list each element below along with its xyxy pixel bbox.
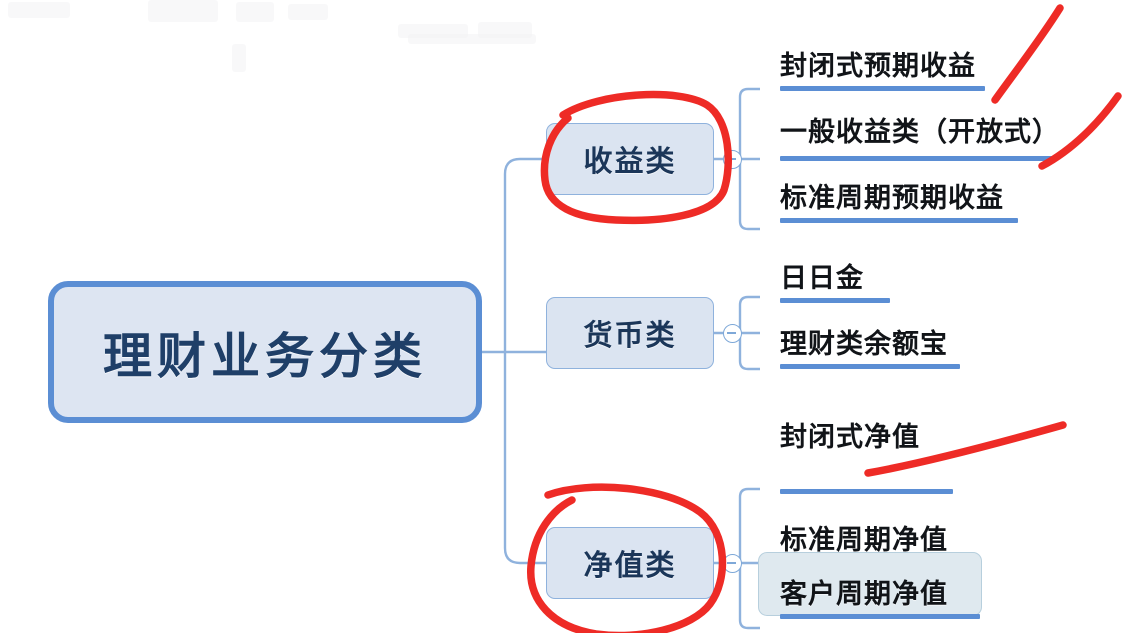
root-node[interactable]: 理财业务分类 bbox=[48, 281, 482, 423]
mindmap-canvas: 理财业务分类 收益类 货币类 净值类 封闭式预期收益 一般收益类（开放式） 标准… bbox=[0, 0, 1138, 633]
leaf-underline bbox=[780, 86, 985, 91]
branch-node-label: 净值类 bbox=[583, 542, 676, 584]
leaf-node-label: 理财类余额宝 bbox=[780, 322, 948, 361]
branch2-fan bbox=[740, 489, 760, 628]
collapse-toggle-branch-2[interactable] bbox=[723, 554, 742, 573]
spine-connector bbox=[505, 159, 546, 563]
root-node-label: 理财业务分类 bbox=[103, 317, 427, 388]
leaf-underline bbox=[780, 218, 1018, 223]
collapse-toggle-branch-0[interactable] bbox=[723, 150, 742, 169]
leaf-underline bbox=[780, 156, 1054, 161]
leaf-underline bbox=[780, 489, 953, 494]
leaf-node-label: 标准周期预期收益 bbox=[780, 176, 1004, 215]
branch-node-label: 货币类 bbox=[583, 312, 676, 354]
branch-node-label: 收益类 bbox=[583, 138, 676, 180]
branch-node-jingzhilei[interactable]: 净值类 bbox=[546, 527, 714, 599]
leaf-underline bbox=[780, 298, 890, 303]
leaf-node-label: 封闭式净值 bbox=[780, 415, 920, 454]
leaf-node-label: 客户周期净值 bbox=[780, 572, 948, 611]
branch-node-shouyilei[interactable]: 收益类 bbox=[546, 123, 714, 195]
leaf-node-label: 日日金 bbox=[780, 256, 864, 295]
branch-node-huobilei[interactable]: 货币类 bbox=[546, 297, 714, 369]
leaf-node-label: 封闭式预期收益 bbox=[780, 44, 976, 83]
leaf-underline bbox=[780, 614, 980, 619]
leaf-node-label: 一般收益类（开放式） bbox=[780, 110, 1060, 149]
leaf-underline bbox=[780, 364, 960, 369]
collapse-toggle-branch-1[interactable] bbox=[723, 324, 742, 343]
